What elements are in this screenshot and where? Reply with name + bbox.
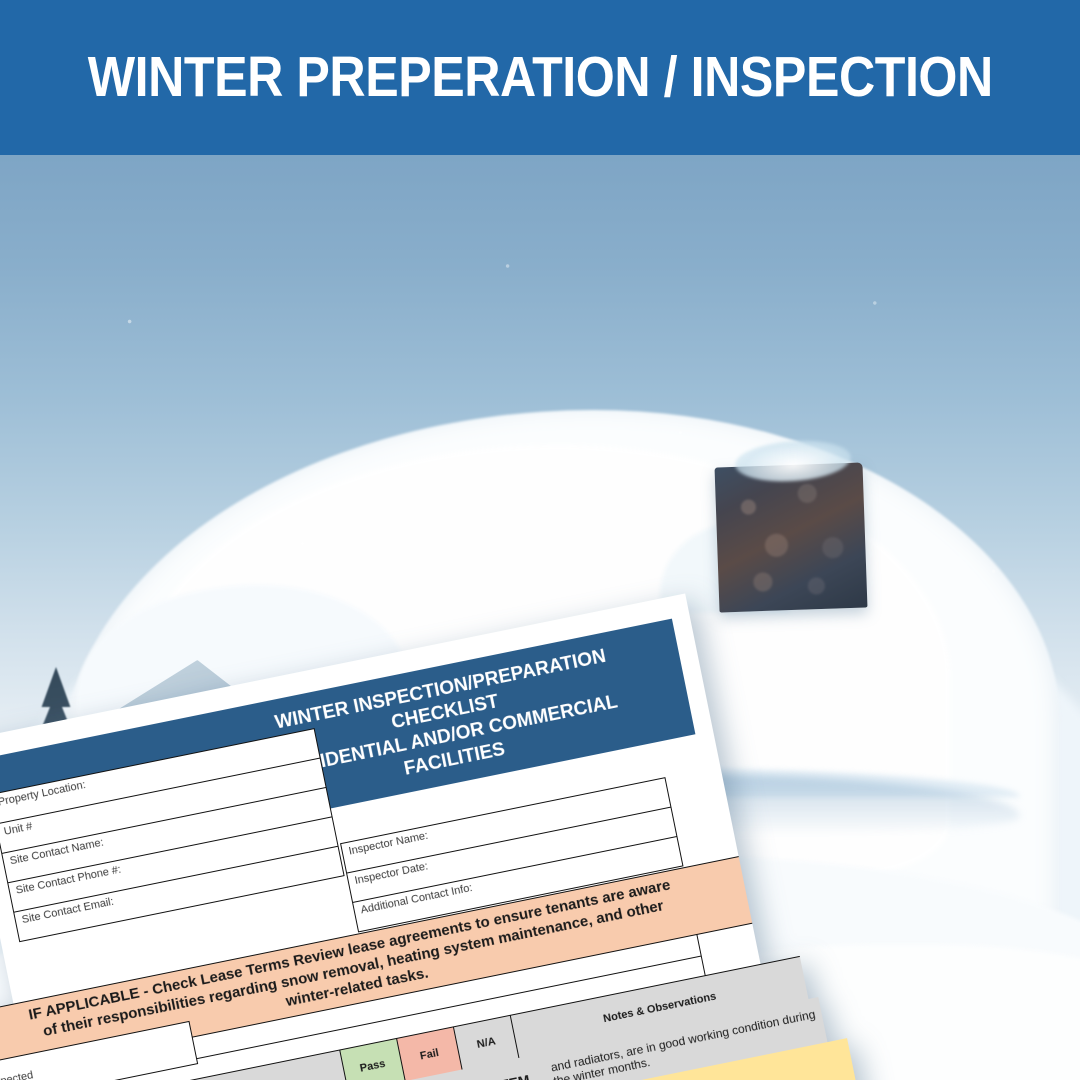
banner-title: WINTER PREPERATION / INSPECTION [87, 49, 992, 106]
screenshot-stage: WINTER INSPECTION/PREPARATION CHECKLIST … [0, 0, 1080, 1080]
field-label: Unit # [3, 820, 34, 837]
date-inspected-label: Date Inspected [0, 1069, 34, 1080]
page-banner: WINTER PREPERATION / INSPECTION [0, 0, 1080, 155]
field-label: Inspector Name: [348, 830, 429, 858]
